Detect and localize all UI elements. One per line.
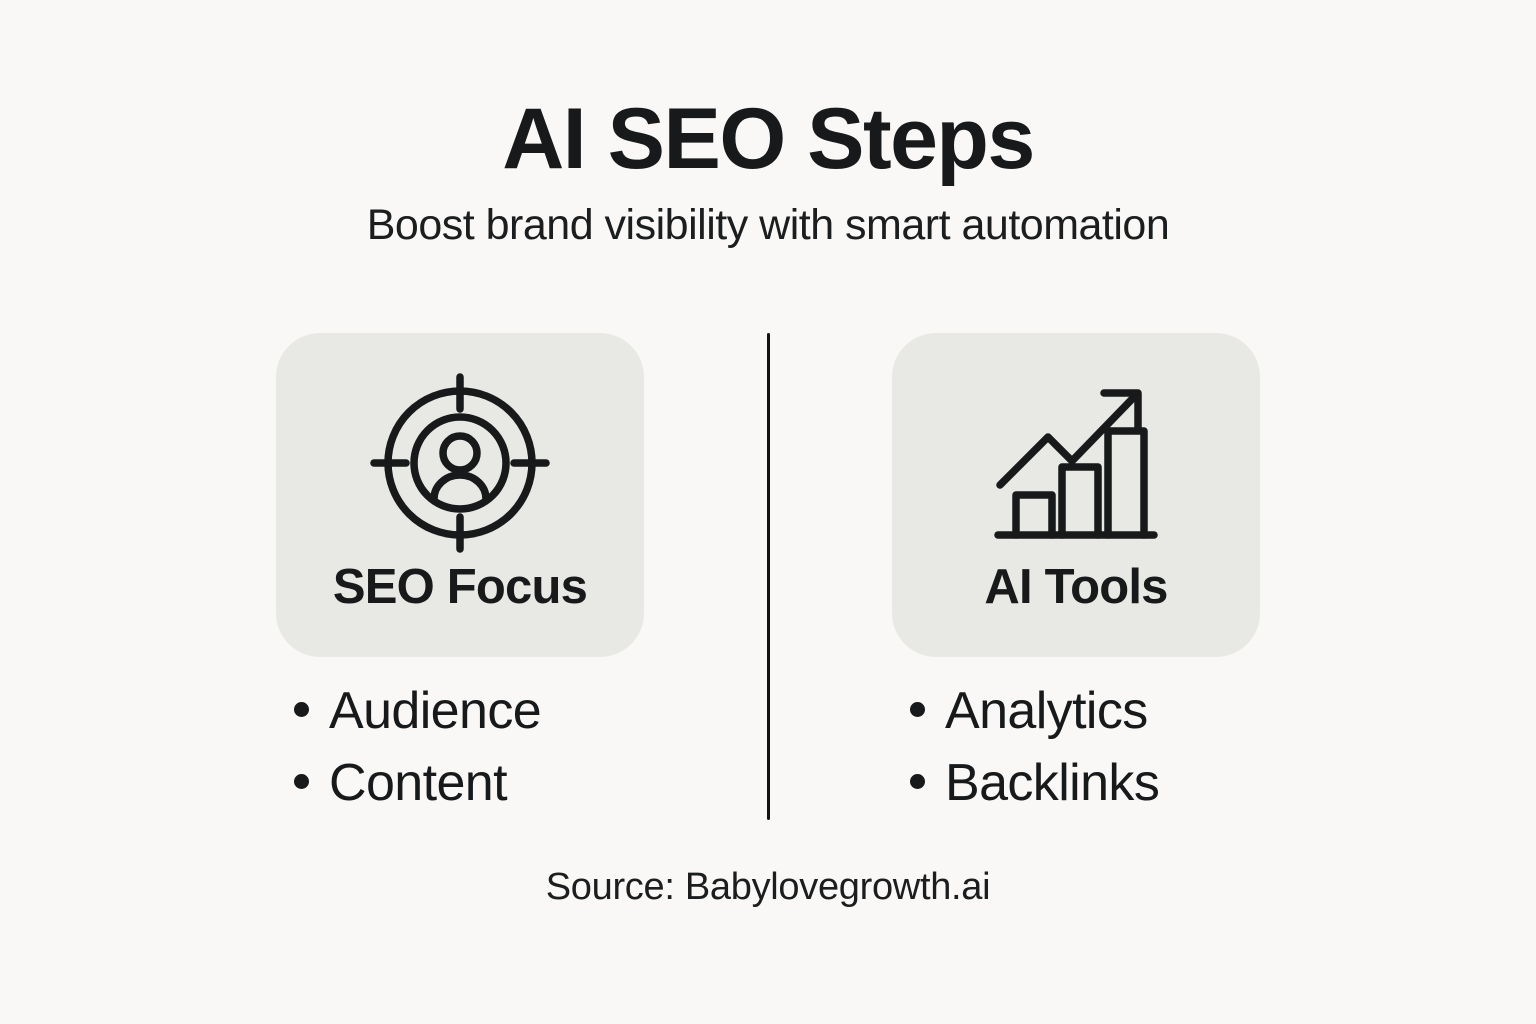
bullet-list-ai-tools: Analytics Backlinks	[892, 657, 1260, 829]
column-gap	[686, 333, 850, 820]
growth-bar-chart-icon	[976, 369, 1176, 557]
bullet-dot-icon	[910, 702, 925, 717]
column-divider	[767, 333, 770, 820]
page-subtitle: Boost brand visibility with smart automa…	[0, 182, 1536, 247]
source-attribution: Source: Babylovegrowth.ai	[0, 868, 1536, 906]
header: AI SEO Steps Boost brand visibility with…	[0, 0, 1536, 247]
target-audience-icon	[360, 369, 560, 557]
column-seo-focus: SEO Focus Audience Content	[234, 333, 686, 829]
card-label-ai-tools: AI Tools	[984, 557, 1167, 612]
bullet-label: Content	[329, 757, 507, 809]
bullet-dot-icon	[910, 774, 925, 789]
footer: Source: Babylovegrowth.ai	[0, 868, 1536, 906]
bullet-list-seo-focus: Audience Content	[276, 657, 644, 829]
list-item: Content	[276, 757, 644, 829]
list-item: Analytics	[892, 685, 1260, 757]
bullet-dot-icon	[294, 702, 309, 717]
bullet-dot-icon	[294, 774, 309, 789]
list-item: Audience	[276, 685, 644, 757]
card-ai-tools[interactable]: AI Tools	[892, 333, 1260, 657]
card-seo-focus[interactable]: SEO Focus	[276, 333, 644, 657]
list-item: Backlinks	[892, 757, 1260, 829]
page-title: AI SEO Steps	[0, 0, 1536, 182]
bullet-label: Analytics	[945, 685, 1148, 737]
columns-container: SEO Focus Audience Content	[0, 333, 1536, 833]
bullet-label: Backlinks	[945, 757, 1159, 809]
bullet-label: Audience	[329, 685, 541, 737]
card-label-seo-focus: SEO Focus	[333, 557, 587, 612]
column-ai-tools: AI Tools Analytics Backlinks	[850, 333, 1302, 829]
